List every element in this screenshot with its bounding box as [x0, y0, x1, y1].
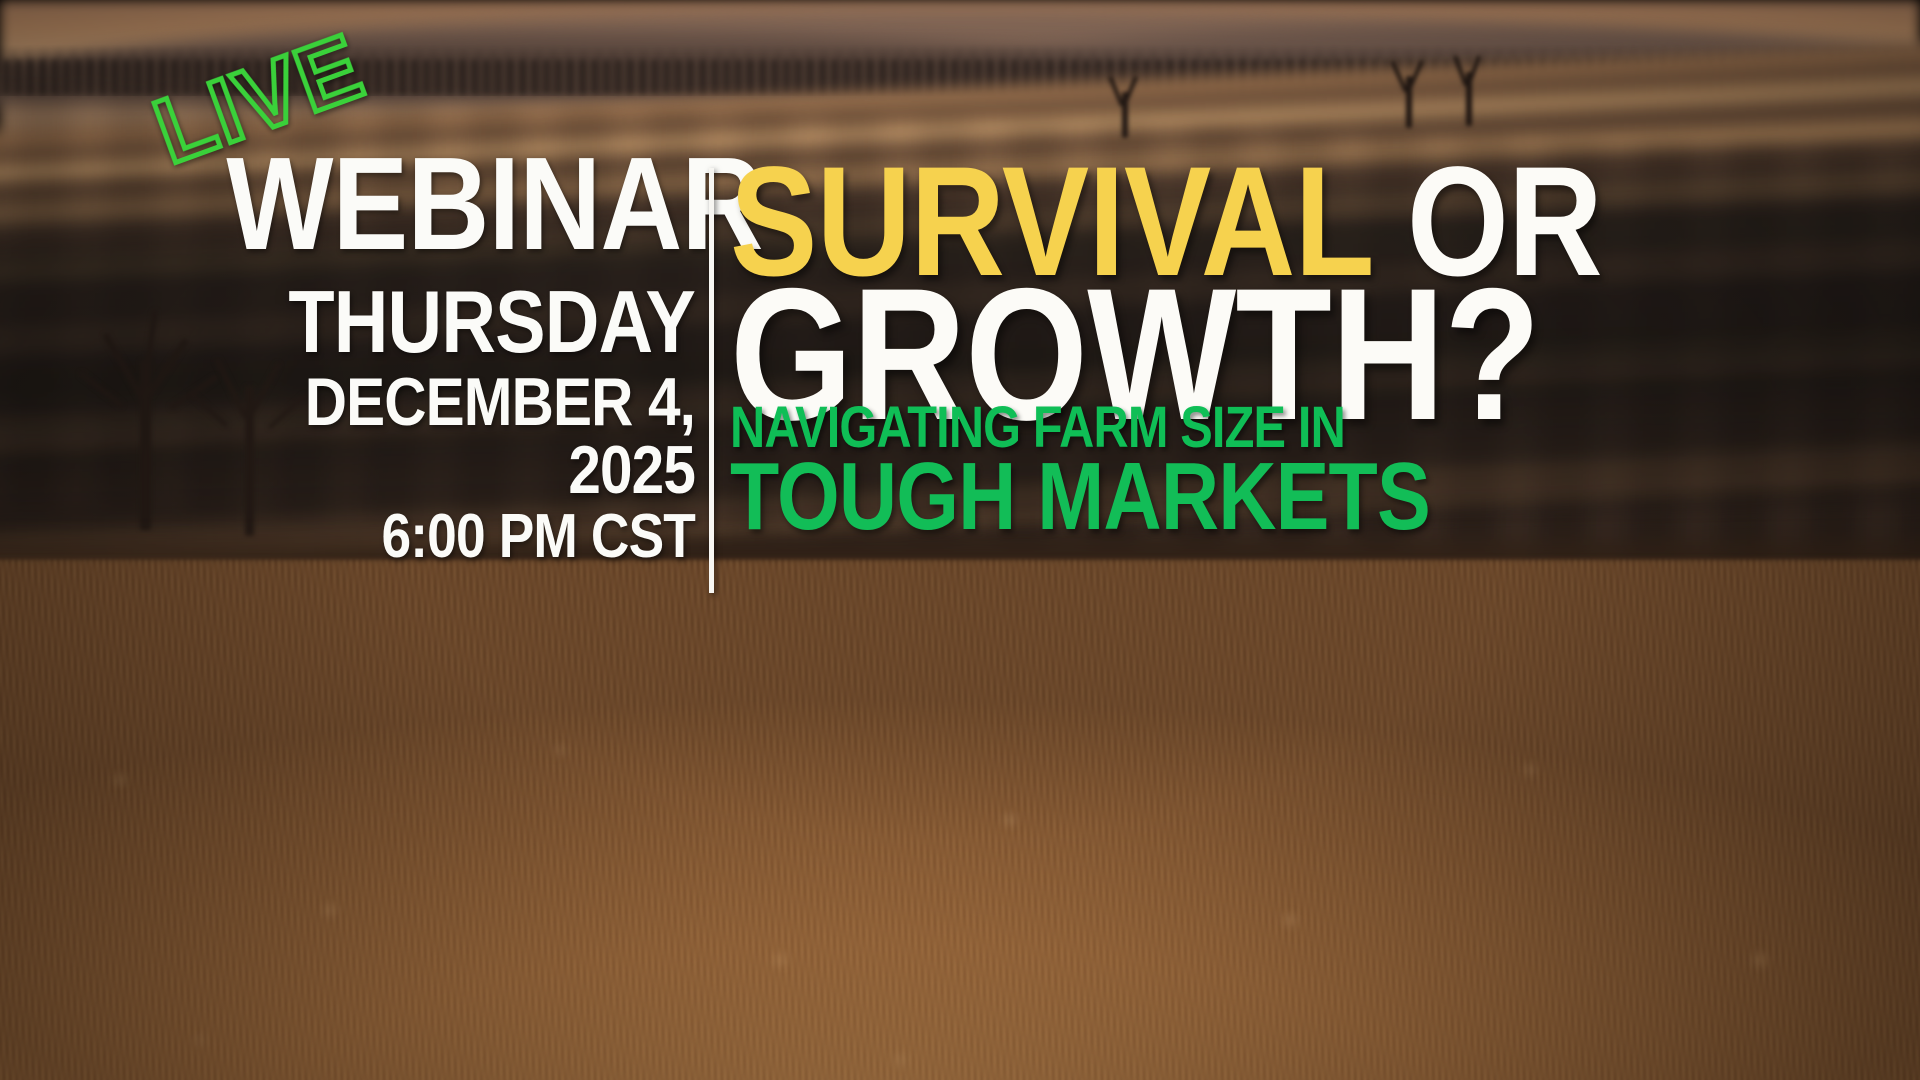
webinar-promo-banner: LIVE WEBINAR THURSDAY DECEMBER 4, 2025 6…: [0, 0, 1920, 1080]
event-details-column: WEBINAR THURSDAY DECEMBER 4, 2025 6:00 P…: [150, 150, 695, 568]
banner-content: LIVE WEBINAR THURSDAY DECEMBER 4, 2025 6…: [0, 0, 1920, 1080]
event-date: DECEMBER 4, 2025: [226, 368, 695, 504]
event-day: THURSDAY: [226, 280, 695, 364]
webinar-title: WEBINAR: [226, 150, 695, 258]
vertical-divider: [709, 168, 714, 593]
topic-subtitle-line-2: TOUGH MARKETS: [730, 455, 1704, 539]
event-time: 6:00 PM CST: [226, 506, 695, 568]
topic-column: SURVIVAL OR GROWTH? NAVIGATING FARM SIZE…: [730, 160, 1890, 540]
